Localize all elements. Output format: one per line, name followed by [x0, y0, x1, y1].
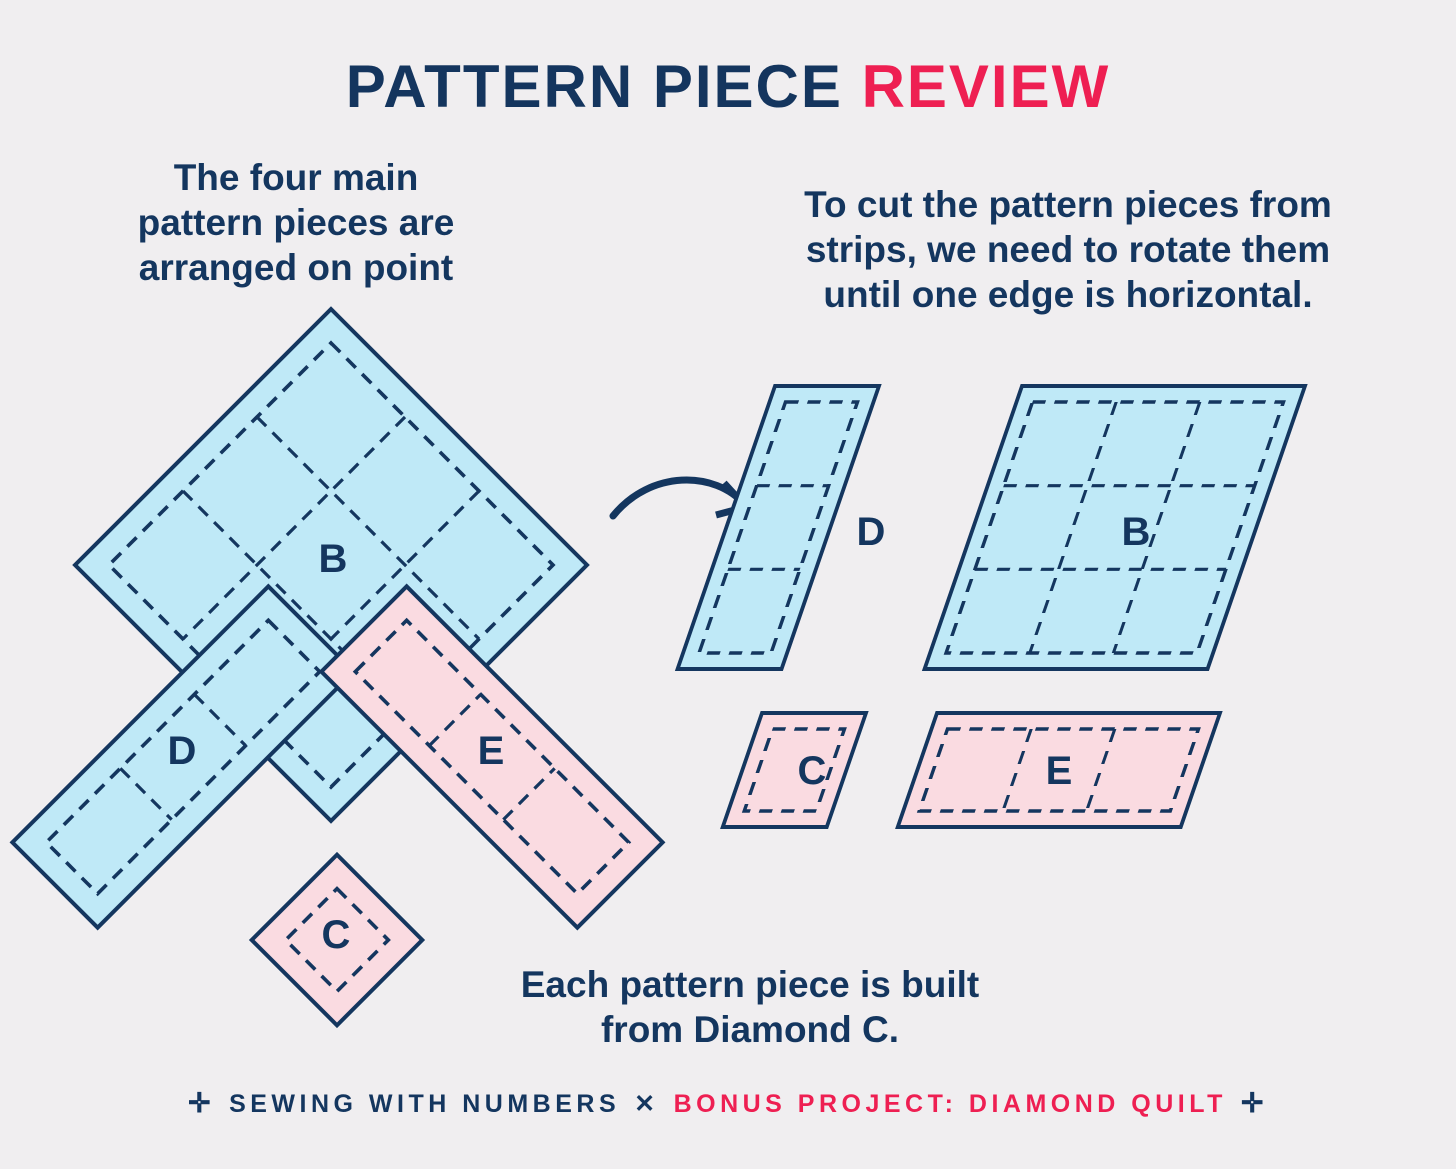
plus-right-icon: ✛: [1241, 1088, 1268, 1118]
rotate-arrow-icon: [613, 480, 746, 516]
piece-c-onpoint-label: C: [322, 913, 351, 957]
piece-b-rotated[interactable]: [925, 386, 1305, 669]
piece-c-rotated[interactable]: [723, 713, 866, 827]
piece-b-onpoint-label: B: [319, 537, 348, 581]
piece-b-rotated-fill: [925, 386, 1305, 669]
piece-d-rotated[interactable]: [678, 386, 879, 669]
footer-brand: SEWING WITH NUMBERS: [229, 1090, 620, 1118]
plus-left-icon: ✛: [188, 1088, 215, 1118]
strip-cut-group: D B C: [678, 386, 1305, 827]
on-point-group: B D E: [12, 309, 662, 1025]
piece-e-rotated-label: E: [1046, 749, 1073, 793]
piece-d-onpoint-label: D: [168, 729, 197, 773]
piece-e-onpoint-label: E: [478, 729, 505, 773]
piece-b-rotated-label: B: [1122, 510, 1151, 554]
pattern-diagram: B D E: [0, 0, 1456, 1169]
footer: ✛SEWING WITH NUMBERS✕BONUS PROJECT: DIAM…: [0, 1088, 1456, 1119]
footer-separator-icon: ✕: [634, 1090, 659, 1118]
piece-d-rotated-label: D: [857, 510, 886, 554]
footer-project: BONUS PROJECT: DIAMOND QUILT: [674, 1090, 1227, 1118]
piece-c-rotated-label: C: [798, 749, 827, 793]
